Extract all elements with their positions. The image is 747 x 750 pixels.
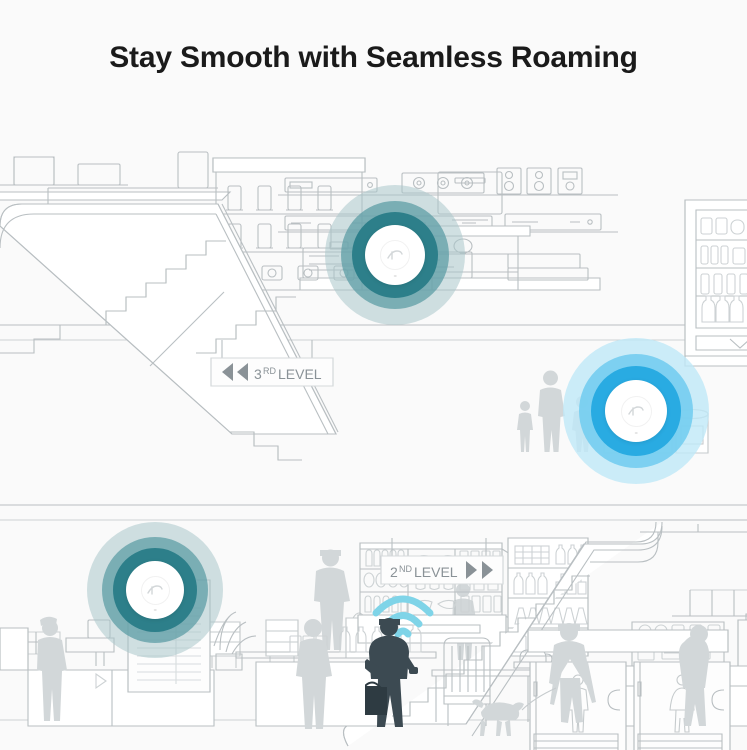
access-point-level-3[interactable]: [325, 185, 465, 325]
tp-link-logo-icon: [626, 405, 646, 417]
tp-link-logo-icon: [385, 249, 405, 261]
svg-text:3: 3: [254, 366, 262, 382]
page-title: Stay Smooth with Seamless Roaming: [0, 41, 747, 75]
access-point-level-1[interactable]: [87, 522, 223, 658]
svg-text:ND: ND: [399, 564, 412, 574]
ap1-device[interactable]: [126, 561, 184, 619]
svg-text:LEVEL: LEVEL: [278, 366, 322, 382]
ap2-device[interactable]: [605, 380, 667, 442]
tp-link-logo-icon: [145, 584, 165, 596]
svg-text:LEVEL: LEVEL: [414, 564, 458, 580]
dog-silhouette: [472, 699, 524, 736]
roaming-illustration-page: Stay Smooth with Seamless Roaming: [0, 0, 747, 750]
ap3-device[interactable]: [365, 225, 425, 285]
escalator-upper: [0, 188, 338, 460]
vending-machine: [685, 200, 747, 366]
svg-text:RD: RD: [263, 366, 276, 376]
access-point-level-2[interactable]: [563, 338, 709, 484]
svg-text:2: 2: [390, 564, 398, 580]
roaming-user-silhouette: [365, 615, 427, 730]
